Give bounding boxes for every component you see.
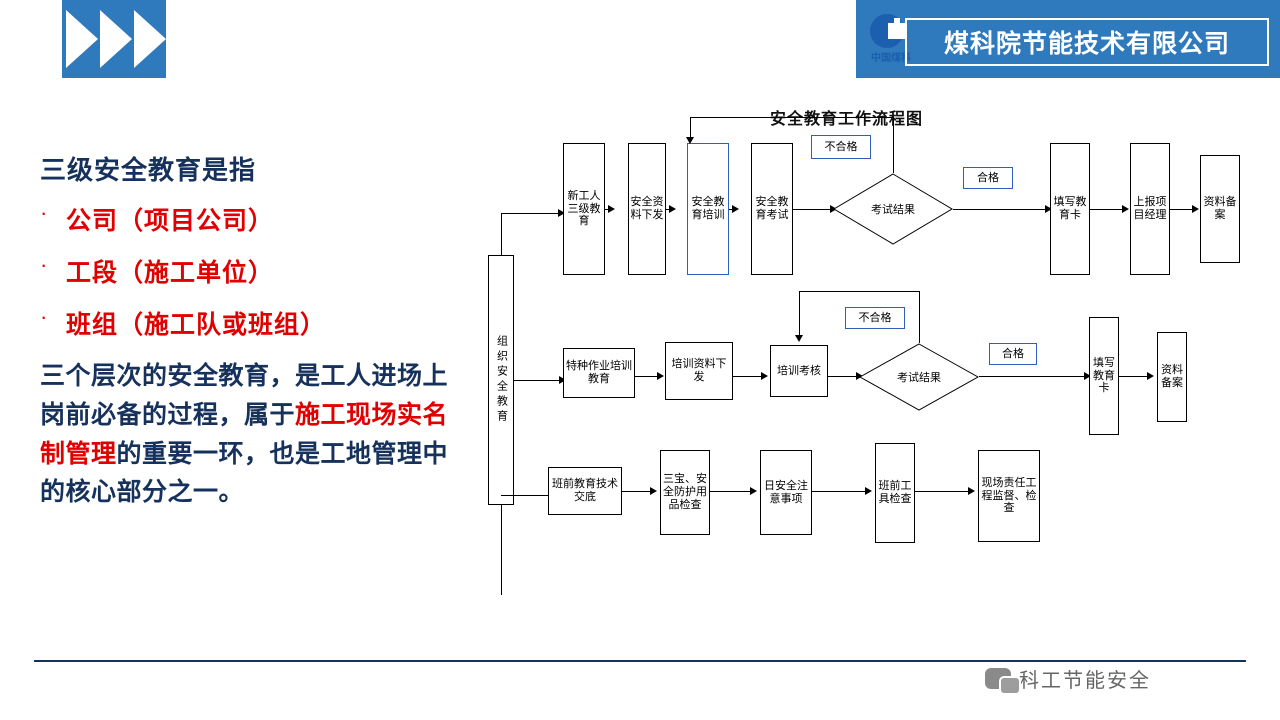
connector (799, 291, 800, 335)
wechat-icon (985, 668, 1011, 689)
flow-label-r1-fail: 不合格 (811, 135, 871, 159)
bullet-label: 工段（施工单位） (66, 253, 274, 289)
arrow-icon (968, 487, 975, 495)
chevron-icon (100, 10, 132, 68)
flow-node-r1-n2: 安全资料下发 (628, 143, 666, 275)
connector (729, 209, 735, 210)
flow-node-spine: 组织安全教育 (488, 255, 514, 505)
chevron-icon (66, 10, 98, 68)
flow-node-r3-n5: 现场责任工程监督、检查 (978, 450, 1040, 542)
connector (1090, 209, 1124, 210)
bullet-marker-icon: · (40, 253, 66, 277)
arrow-icon (761, 372, 768, 380)
flow-node-r1-n1: 新工人三级教育 (563, 143, 605, 275)
flow-node-r2-n3: 培训考核 (770, 345, 828, 397)
arrow-icon (657, 372, 664, 380)
connector (710, 491, 752, 492)
connector (635, 376, 659, 377)
connector (733, 376, 763, 377)
company-title: 煤科院节能技术有限公司 (944, 24, 1230, 60)
footer-divider (34, 660, 1246, 662)
logo-mark-icon (888, 23, 906, 39)
arrow-icon (1147, 372, 1154, 380)
header-left-white-block (0, 0, 62, 78)
connector (953, 209, 1048, 210)
connector (812, 491, 867, 492)
flow-label-r2-pass: 合格 (989, 343, 1037, 365)
list-item: · 工段（施工单位） (40, 253, 470, 289)
bullet-label: 公司（项目公司） (66, 201, 274, 237)
connector (514, 380, 562, 381)
connector (915, 491, 970, 492)
flow-decision-r1-label: 考试结果 (833, 173, 953, 245)
flow-node-r2-n5: 资料备案 (1157, 332, 1187, 422)
flow-node-r3-n3: 日安全注意事项 (760, 450, 812, 535)
connector (1119, 376, 1149, 377)
flow-node-r3-n2: 三宝、安全防护用品检查 (660, 450, 710, 535)
body-paragraph: 三个层次的安全教育，是工人进场上岗前必备的过程，属于施工现场实名制管理的重要一环… (40, 357, 470, 512)
flow-decision-r2: 考试结果 (859, 343, 979, 411)
connector (828, 376, 858, 377)
footer-brand: 科工节能安全 (985, 664, 1151, 693)
list-item: · 公司（项目公司） (40, 201, 470, 237)
connector (919, 291, 920, 343)
flow-node-r2-n1: 特种作业培训教育 (563, 348, 635, 398)
flow-node-r2-n4: 填写教育卡 (1089, 317, 1119, 435)
logo-circle-icon (870, 14, 904, 48)
flow-node-r1-n4: 安全教育考试 (751, 143, 793, 275)
list-item: · 班组（施工队或班组） (40, 305, 470, 341)
bullet-marker-icon: · (40, 305, 66, 329)
arrow-icon (750, 487, 757, 495)
company-title-box: 煤科院节能技术有限公司 (905, 18, 1269, 66)
connector (501, 213, 502, 255)
flow-label-r1-pass: 合格 (963, 167, 1013, 189)
connector (605, 209, 611, 210)
footer-brand-label: 科工节能安全 (1019, 664, 1151, 693)
header-white-band (166, 0, 856, 78)
arrow-icon (1192, 205, 1199, 213)
flow-label-r2-fail: 不合格 (845, 307, 905, 329)
arrow-icon (795, 335, 803, 342)
connector (799, 291, 920, 292)
connector (690, 117, 894, 118)
flow-node-r3-n4: 班前工具检查 (875, 443, 915, 543)
flow-decision-r2-label: 考试结果 (859, 343, 979, 411)
bullet-label: 班组（施工队或班组） (66, 305, 326, 341)
flow-node-r3-n1: 班前教育技术交底 (548, 467, 622, 515)
flow-node-r1-n5: 填写教育卡 (1050, 143, 1090, 275)
arrow-icon (1122, 205, 1129, 213)
flow-node-r2-n2: 培训资料下发 (665, 342, 733, 400)
flow-node-r1-n6: 上报项目经理 (1130, 143, 1170, 275)
connector (501, 505, 502, 595)
arrow-icon (650, 487, 657, 495)
flowchart: 安全教育工作流程图 组织安全教育 新工人三级教育 安全资料下发 安全教育培训 安… (470, 95, 1270, 665)
connector (690, 117, 691, 139)
page-header: 中国煤科 煤科院节能技术有限公司 (0, 0, 1280, 78)
bullet-marker-icon: · (40, 201, 66, 225)
connector (893, 117, 894, 173)
connector (501, 495, 551, 496)
flow-node-r1-n7: 资料备案 (1200, 155, 1240, 263)
flow-decision-r1: 考试结果 (833, 173, 953, 245)
connector (1170, 209, 1194, 210)
connector (501, 213, 561, 214)
chevron-icon (134, 10, 166, 68)
lead-text: 三级安全教育是指 (40, 150, 470, 187)
connector (979, 376, 1087, 377)
connector (666, 209, 672, 210)
connector (622, 491, 652, 492)
connector (793, 209, 833, 210)
arrow-icon (865, 487, 872, 495)
left-text-column: 三级安全教育是指 · 公司（项目公司） · 工段（施工单位） · 班组（施工队或… (40, 150, 470, 512)
flow-node-r1-n3: 安全教育培训 (687, 143, 729, 275)
